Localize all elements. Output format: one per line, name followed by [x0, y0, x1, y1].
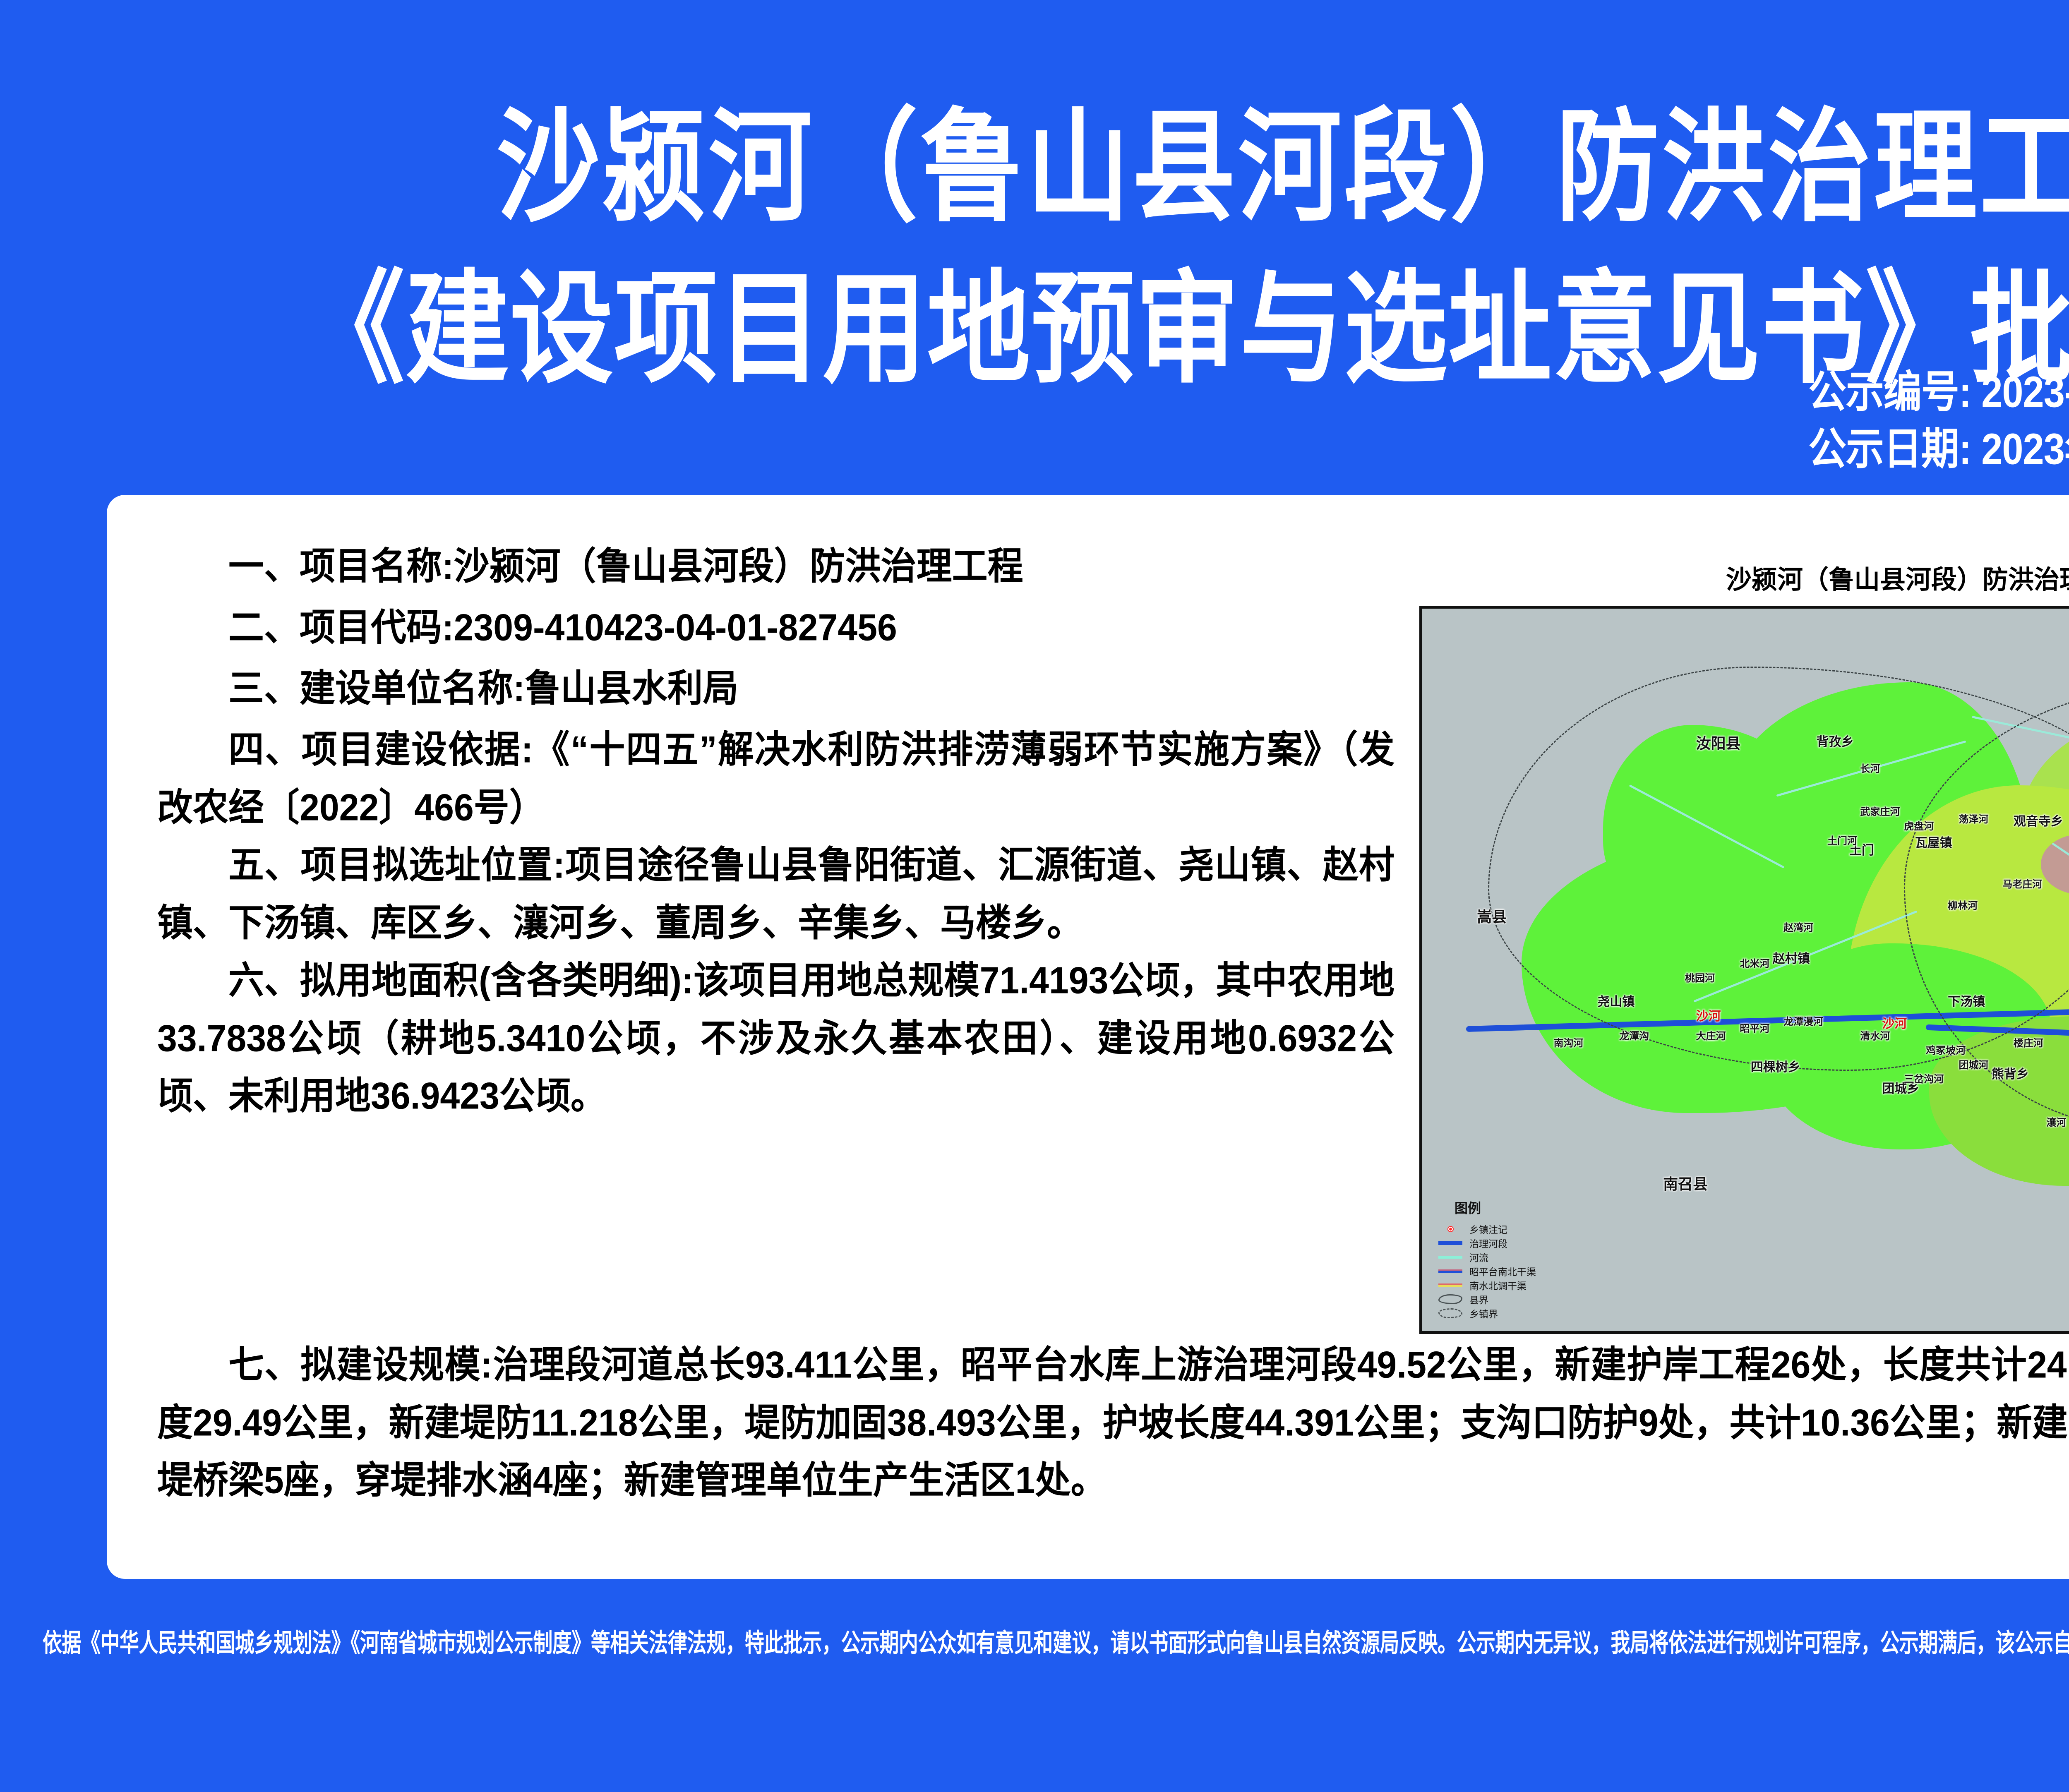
map-label-township: 四棵树乡	[1751, 1057, 1800, 1075]
legend-label: 乡镇注记	[1469, 1222, 1507, 1236]
map-label-small-river: 楼庄河	[2014, 1035, 2043, 1049]
map-label-township: 下汤镇	[1948, 991, 1985, 1010]
legend-item-township-boundary: 乡镇界	[1435, 1306, 1536, 1320]
map-label-township: 瓦屋镇	[1915, 832, 1952, 851]
public-notice-poster: 沙颍河（鲁山县河段）防洪治理工程 《建设项目用地预审与选址意见书》批前公示 公示…	[0, 0, 2069, 1792]
map-label-small-river: 马老庄河	[2002, 876, 2042, 890]
map-label-township: 熊背乡	[1992, 1064, 2029, 1082]
poster-title-line-2-row: 《建设项目用地预审与选址意见书》批前公示	[0, 257, 2069, 406]
poster-header: 沙颍河（鲁山县河段）防洪治理工程 《建设项目用地预审与选址意见书》批前公示 公示…	[0, 103, 2069, 488]
notice-item-land-area: 六、拟用地面积(含各类明细):该项目用地总规模71.4193公顷，其中农用地33…	[157, 952, 1395, 1125]
legend-label: 南水北调干渠	[1469, 1278, 1527, 1292]
map-legend: 图例 乡镇注记 治理河段 河流	[1435, 1198, 1536, 1320]
map-label-small-river: 昭平河	[1740, 1020, 1769, 1035]
notice-item-construction-unit: 三、建设单位名称:鲁山县水利局	[157, 660, 1395, 717]
map-label-small-river: 荡泽河	[1959, 811, 1989, 825]
map-label-small-river: 柳林河	[1948, 897, 1978, 912]
legend-label: 河流	[1469, 1250, 1488, 1264]
map-label-small-river: 武家庄河	[1860, 804, 1900, 818]
township-boundary-icon	[1435, 1308, 1465, 1318]
map-label-township: 尧山镇	[1597, 991, 1635, 1010]
map-label-small-river: 虎盘河	[1904, 818, 1934, 832]
notice-item-project-name: 一、项目名称:沙颍河（鲁山县河段）防洪治理工程	[157, 538, 1395, 595]
map-label-small-river: 龙潭沟	[1619, 1028, 1649, 1042]
map-label-small-river: 清水河	[1860, 1028, 1890, 1042]
township-marker-icon	[1435, 1227, 1465, 1231]
legend-item-zpt-canal: 昭平台南北干渠	[1435, 1264, 1536, 1278]
map-label-township: 背孜乡	[1817, 732, 1854, 750]
map-label-small-river: 大庄河	[1696, 1028, 1726, 1042]
map-label-small-river: 三岔沟河	[1904, 1071, 1944, 1085]
map-label-river-shahe: 沙河	[1696, 1006, 1721, 1024]
legend-item-township-marker: 乡镇注记	[1435, 1222, 1536, 1236]
location-map-panel: 沙颍河（鲁山县河段）防洪治理工程位置图	[1419, 559, 2069, 1324]
map-label-small-river: 团城河	[1959, 1057, 1989, 1071]
notice-period: 公示日期: 2023年11月28日-2023年12月4日	[1808, 421, 2069, 478]
map-label-county: 汝阳县	[1696, 732, 1741, 753]
notice-number: 公示编号: 2023-045	[1808, 364, 2069, 421]
notice-body-column: 一、项目名称:沙颍河（鲁山县河段）防洪治理工程 二、项目代码:2309-4104…	[157, 538, 1395, 1122]
poster-title-line-2: 《建设项目用地预审与选址意见书》批前公示	[301, 230, 2069, 406]
map-title: 沙颍河（鲁山县河段）防洪治理工程位置图	[1419, 559, 2069, 596]
map-label-small-river: 龙潭漫河	[1783, 1013, 1823, 1028]
map-label-county: 嵩县	[1477, 905, 1507, 926]
map-label-small-river: 南沟河	[1554, 1035, 1584, 1049]
notice-meta-block: 公示编号: 2023-045 公示日期: 2023年11月28日-2023年12…	[1808, 364, 2069, 478]
treated-reach-line-icon	[1435, 1241, 1465, 1245]
notice-item-basis: 四、项目建设依据:《“十四五”解决水利防洪排涝薄弱环节实施方案》（发改农经〔20…	[157, 721, 1395, 837]
notice-item-site-location: 五、项目拟选址位置:项目途径鲁山县鲁阳街道、汇源街道、尧山镇、赵村镇、下汤镇、库…	[157, 837, 1395, 952]
zpt-canal-line-icon	[1435, 1269, 1465, 1273]
map-label-small-river: 赵湾河	[1783, 919, 1813, 934]
map-label-small-river: 长河	[1860, 760, 1880, 775]
legend-label: 治理河段	[1469, 1236, 1507, 1250]
map-canvas[interactable]: 汝州市 汝阳县 嵩县 宝丰县 石龙区 新华区 南召县 背孜乡 观音寺乡 仓头乡 …	[1419, 606, 2069, 1334]
river-line-icon	[1435, 1256, 1465, 1259]
legend-item-nsbd-canal: 南水北调干渠	[1435, 1278, 1536, 1292]
legend-item-treated-reach: 治理河段	[1435, 1236, 1536, 1250]
notice-item-project-code: 二、项目代码:2309-410423-04-01-827456	[157, 599, 1395, 657]
map-label-small-river: 土门河	[1827, 832, 1857, 847]
county-boundary-icon	[1435, 1294, 1465, 1304]
notice-item-construction-scale: 七、拟建设规模:治理段河道总长93.411公里，昭平台水库上游治理河段49.52…	[157, 1336, 2069, 1509]
legend-label: 县界	[1469, 1292, 1488, 1306]
map-label-small-river: 鸡冢坡河	[1926, 1042, 1966, 1057]
poster-footer-disclaimer: 依据《中华人民共和国城乡规划法》《河南省城市规划公示制度》等相关法律法规，特此批…	[0, 1622, 2069, 1659]
nsbd-canal-line-icon	[1435, 1283, 1465, 1287]
map-label-small-river: 瀼河	[2046, 1114, 2066, 1129]
legend-label: 乡镇界	[1469, 1306, 1498, 1320]
legend-item-county-boundary: 县界	[1435, 1292, 1536, 1306]
legend-label: 昭平台南北干渠	[1469, 1264, 1536, 1278]
legend-item-river: 河流	[1435, 1250, 1536, 1264]
map-label-small-river: 北米河	[1740, 955, 1769, 970]
map-label-county: 南召县	[1663, 1172, 1708, 1194]
poster-title-line-1: 沙颍河（鲁山县河段）防洪治理工程	[0, 103, 2069, 232]
map-label-township: 赵村镇	[1773, 948, 1810, 967]
map-label-small-river: 桃园河	[1685, 970, 1715, 984]
map-legend-title: 图例	[1455, 1198, 1536, 1217]
map-label-township: 观音寺乡	[2014, 811, 2063, 829]
